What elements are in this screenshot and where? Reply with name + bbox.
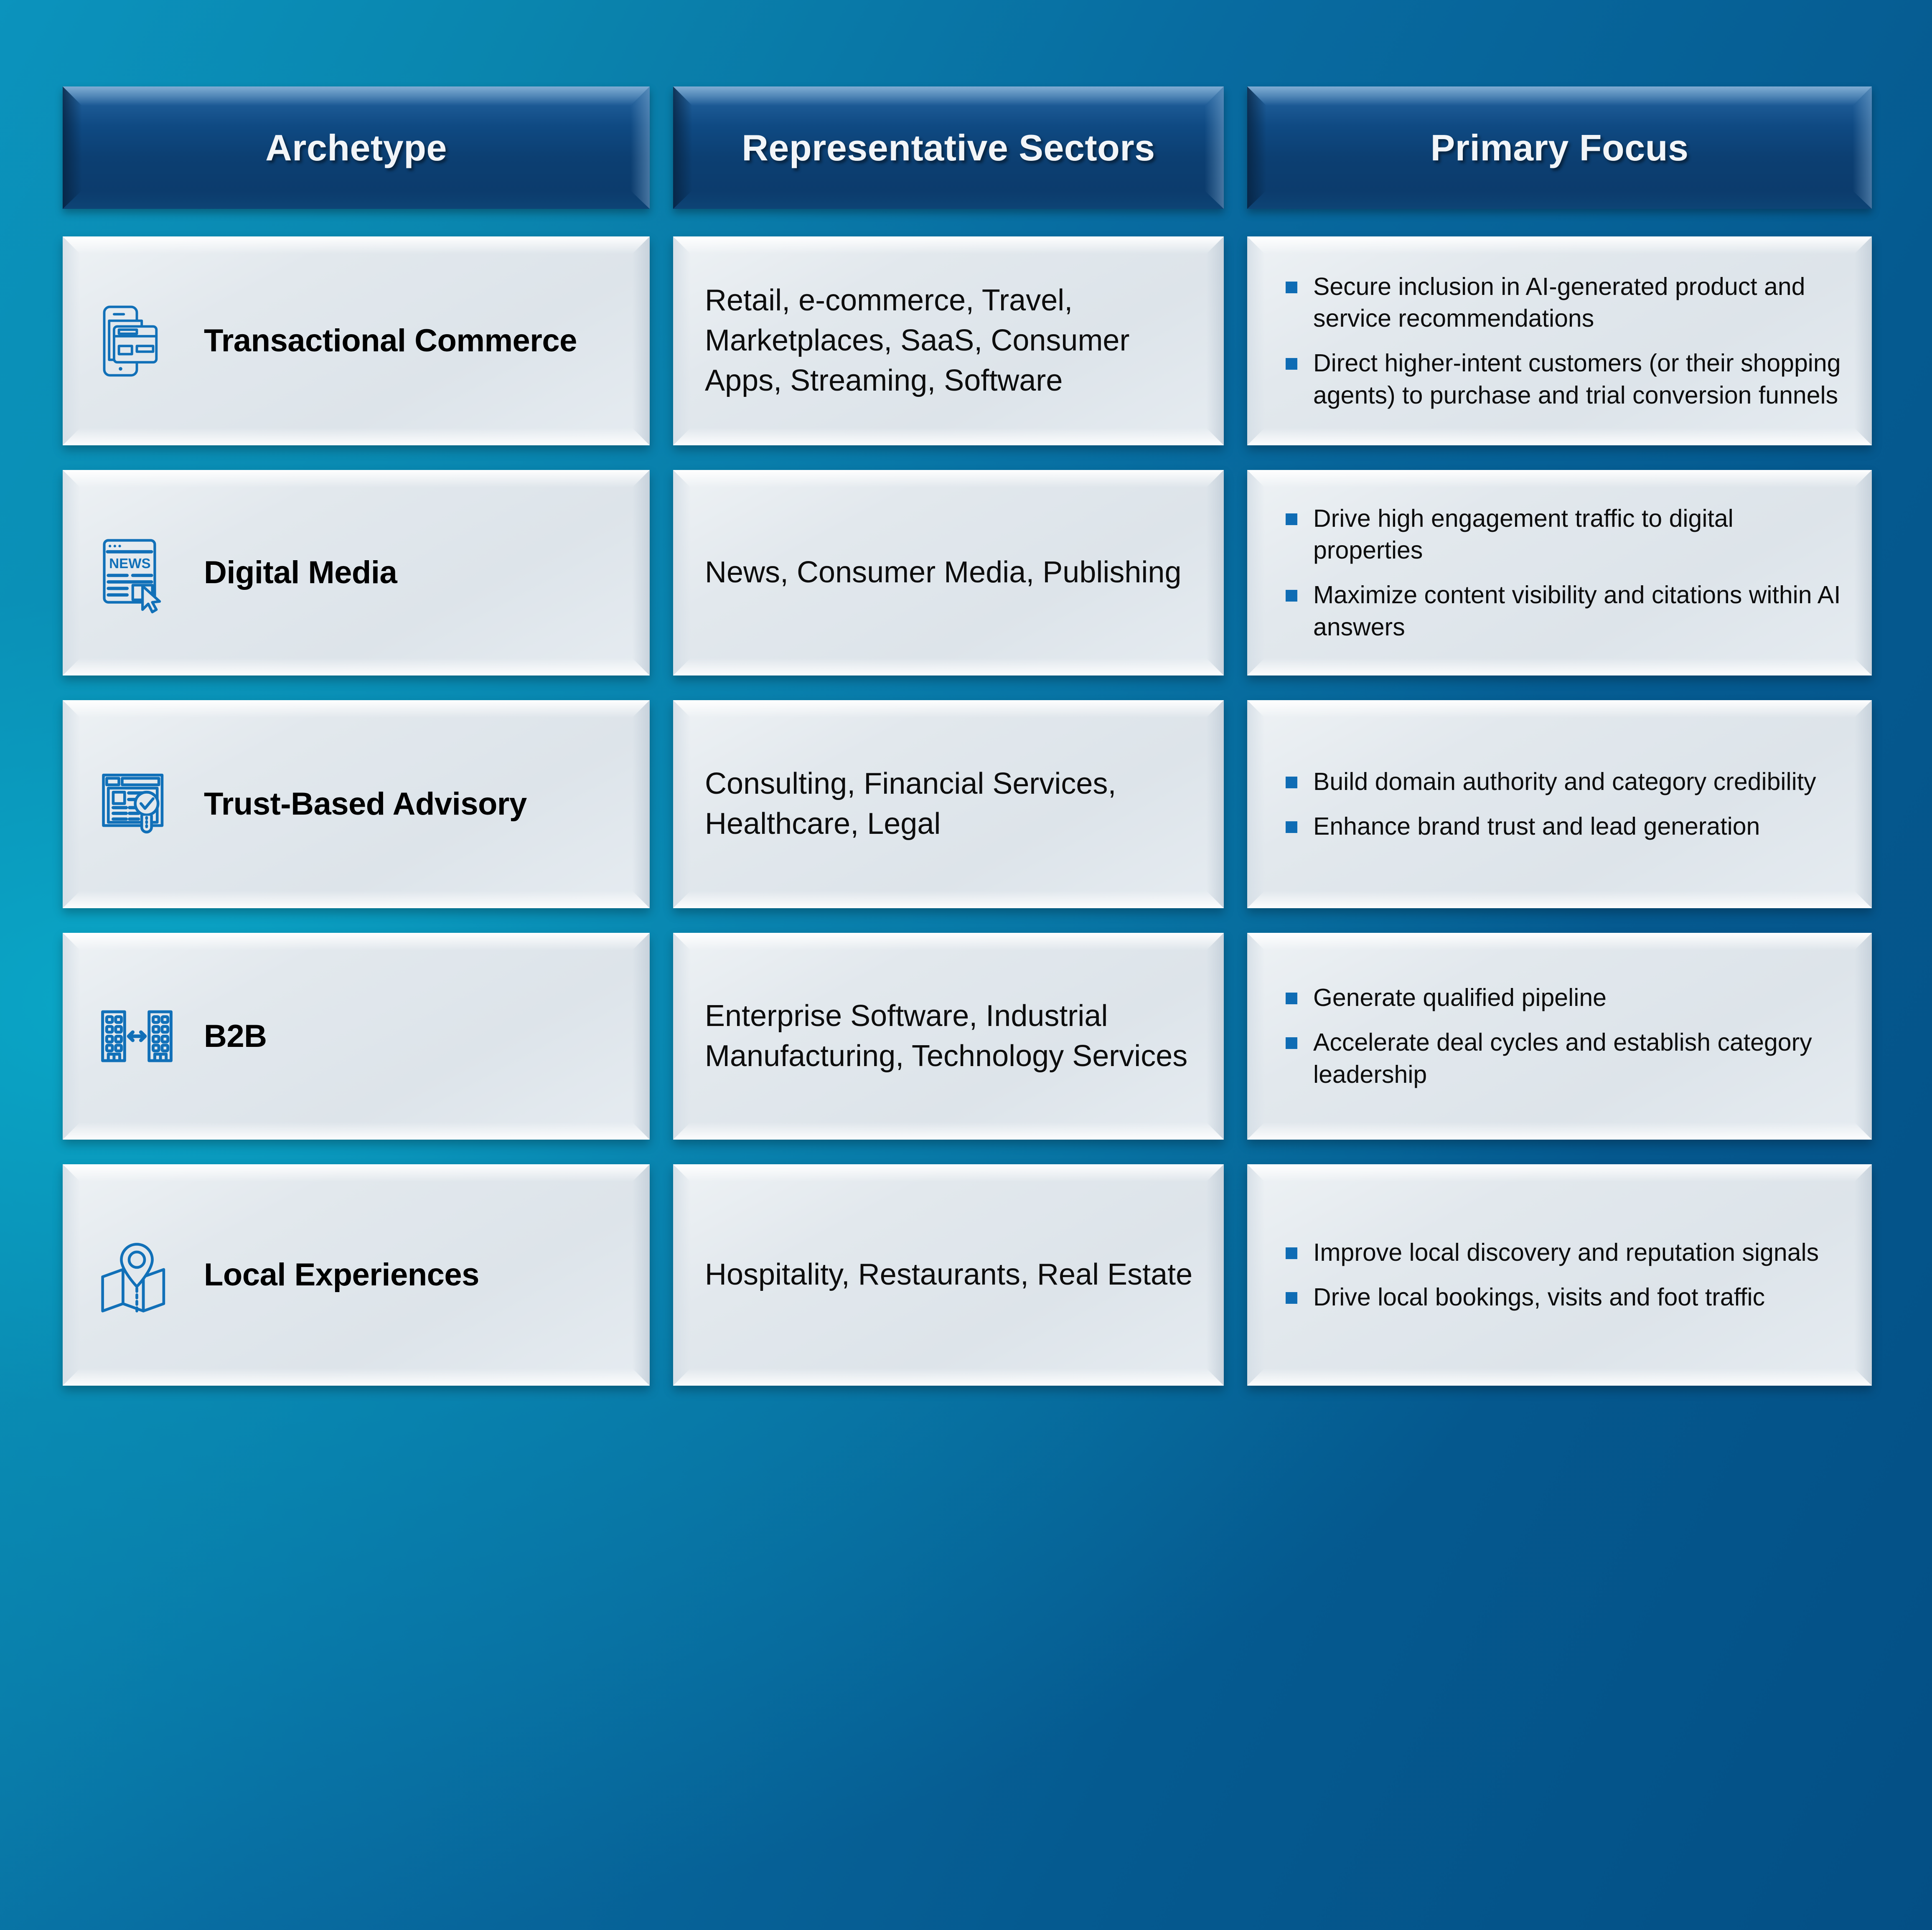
bevel-right [1853, 86, 1872, 209]
column-header-label: Representative Sectors [742, 127, 1155, 169]
archetype-cell: B2B [63, 933, 650, 1140]
focus-list: Improve local discovery and reputation s… [1286, 1237, 1843, 1313]
spacer [63, 908, 1872, 933]
bullet-square-icon [1286, 282, 1297, 293]
list-item: Drive high engagement traffic to digital… [1286, 503, 1843, 566]
table-header-row: Archetype Representative Sectors Primary… [63, 86, 1872, 209]
list-item: Improve local discovery and reputation s… [1286, 1237, 1843, 1269]
list-item: Maximize content visibility and citation… [1286, 579, 1843, 643]
list-item: Drive local bookings, visits and foot tr… [1286, 1281, 1843, 1313]
list-item: Enhance brand trust and lead generation [1286, 810, 1843, 843]
focus-text: Enhance brand trust and lead generation [1313, 810, 1843, 843]
focus-list: Build domain authority and category cred… [1286, 766, 1843, 842]
sectors-cell: Hospitality, Restaurants, Real Estate [673, 1164, 1224, 1386]
list-item: Build domain authority and category cred… [1286, 766, 1843, 798]
primary-focus-cell: Drive high engagement traffic to digital… [1247, 470, 1872, 675]
focus-text: Improve local discovery and reputation s… [1313, 1237, 1843, 1269]
bevel-left [1247, 86, 1266, 209]
bullet-square-icon [1286, 993, 1297, 1004]
focus-text: Direct higher-intent customers (or their… [1313, 347, 1843, 411]
browser-verified-search-icon [93, 760, 180, 848]
list-item: Secure inclusion in AI-generated product… [1286, 271, 1843, 335]
sectors-text: News, Consumer Media, Publishing [673, 553, 1224, 593]
bevel-right [630, 86, 650, 209]
bullet-square-icon [1286, 1037, 1297, 1049]
column-header-archetype: Archetype [63, 86, 650, 209]
primary-focus-cell: Generate qualified pipeline Accelerate d… [1247, 933, 1872, 1140]
sectors-text: Enterprise Software, Industrial Manufact… [673, 996, 1224, 1077]
spacer [63, 445, 1872, 470]
focus-text: Drive local bookings, visits and foot tr… [1313, 1281, 1843, 1313]
bullet-square-icon [1286, 1292, 1297, 1304]
column-header-representative-sectors: Representative Sectors [673, 86, 1224, 209]
bullet-square-icon [1286, 777, 1297, 788]
list-item: Direct higher-intent customers (or their… [1286, 347, 1843, 411]
bevel-left [673, 86, 692, 209]
map-location-pin-icon [93, 1231, 180, 1319]
sectors-cell: Consulting, Financial Services, Healthca… [673, 700, 1224, 908]
bevel-right [1205, 86, 1224, 209]
sectors-text: Retail, e-commerce, Travel, Marketplaces… [673, 281, 1224, 401]
focus-text: Maximize content visibility and citation… [1313, 579, 1843, 643]
table-row: Trust-Based Advisory Consulting, Financi… [63, 700, 1872, 908]
archetype-cell: NEWS Digital Media [63, 470, 650, 675]
column-header-label: Archetype [265, 127, 447, 169]
primary-focus-cell: Build domain authority and category cred… [1247, 700, 1872, 908]
list-item: Generate qualified pipeline [1286, 982, 1843, 1014]
focus-list: Secure inclusion in AI-generated product… [1286, 271, 1843, 411]
sectors-cell: Enterprise Software, Industrial Manufact… [673, 933, 1224, 1140]
focus-text: Drive high engagement traffic to digital… [1313, 503, 1843, 566]
focus-list: Drive high engagement traffic to digital… [1286, 503, 1843, 643]
spacer [63, 209, 1872, 236]
mobile-payment-icon [93, 297, 180, 385]
archetype-label: Transactional Commerce [204, 320, 577, 361]
table-row: Local Experiences Hospitality, Restauran… [63, 1164, 1872, 1386]
table-row: Transactional Commerce Retail, e-commerc… [63, 236, 1872, 445]
archetype-label: Local Experiences [204, 1254, 479, 1295]
archetype-label: Trust-Based Advisory [204, 784, 527, 824]
focus-list: Generate qualified pipeline Accelerate d… [1286, 982, 1843, 1090]
list-item: Accelerate deal cycles and establish cat… [1286, 1026, 1843, 1090]
bullet-square-icon [1286, 1247, 1297, 1259]
archetype-cell: Trust-Based Advisory [63, 700, 650, 908]
focus-text: Secure inclusion in AI-generated product… [1313, 271, 1843, 335]
spacer [63, 675, 1872, 700]
bullet-square-icon [1286, 358, 1297, 370]
focus-text: Generate qualified pipeline [1313, 982, 1843, 1014]
primary-focus-cell: Secure inclusion in AI-generated product… [1247, 236, 1872, 445]
archetype-label: B2B [204, 1016, 267, 1056]
column-header-primary-focus: Primary Focus [1247, 86, 1872, 209]
focus-text: Build domain authority and category cred… [1313, 766, 1843, 798]
column-header-label: Primary Focus [1431, 127, 1689, 169]
svg-text:NEWS: NEWS [109, 556, 150, 571]
spacer [63, 1140, 1872, 1164]
bullet-square-icon [1286, 590, 1297, 602]
archetype-cell: Transactional Commerce [63, 236, 650, 445]
bullet-square-icon [1286, 821, 1297, 833]
two-buildings-exchange-icon [93, 993, 180, 1080]
focus-text: Accelerate deal cycles and establish cat… [1313, 1026, 1843, 1090]
archetype-label: Digital Media [204, 552, 397, 593]
sectors-cell: Retail, e-commerce, Travel, Marketplaces… [673, 236, 1224, 445]
archetype-cell: Local Experiences [63, 1164, 650, 1386]
bullet-square-icon [1286, 513, 1297, 525]
archetype-comparison-table: Archetype Representative Sectors Primary… [63, 86, 1872, 1386]
primary-focus-cell: Improve local discovery and reputation s… [1247, 1164, 1872, 1386]
sectors-text: Hospitality, Restaurants, Real Estate [673, 1255, 1224, 1295]
sectors-cell: News, Consumer Media, Publishing [673, 470, 1224, 675]
table-row: NEWS Digital Media [63, 470, 1872, 675]
sectors-text: Consulting, Financial Services, Healthca… [673, 764, 1224, 844]
bevel-left [63, 86, 82, 209]
table-row: B2B Enterprise Software, Industrial Manu… [63, 933, 1872, 1140]
news-browser-cursor-icon: NEWS [93, 529, 180, 617]
slide-canvas: Archetype Representative Sectors Primary… [0, 0, 1932, 1930]
